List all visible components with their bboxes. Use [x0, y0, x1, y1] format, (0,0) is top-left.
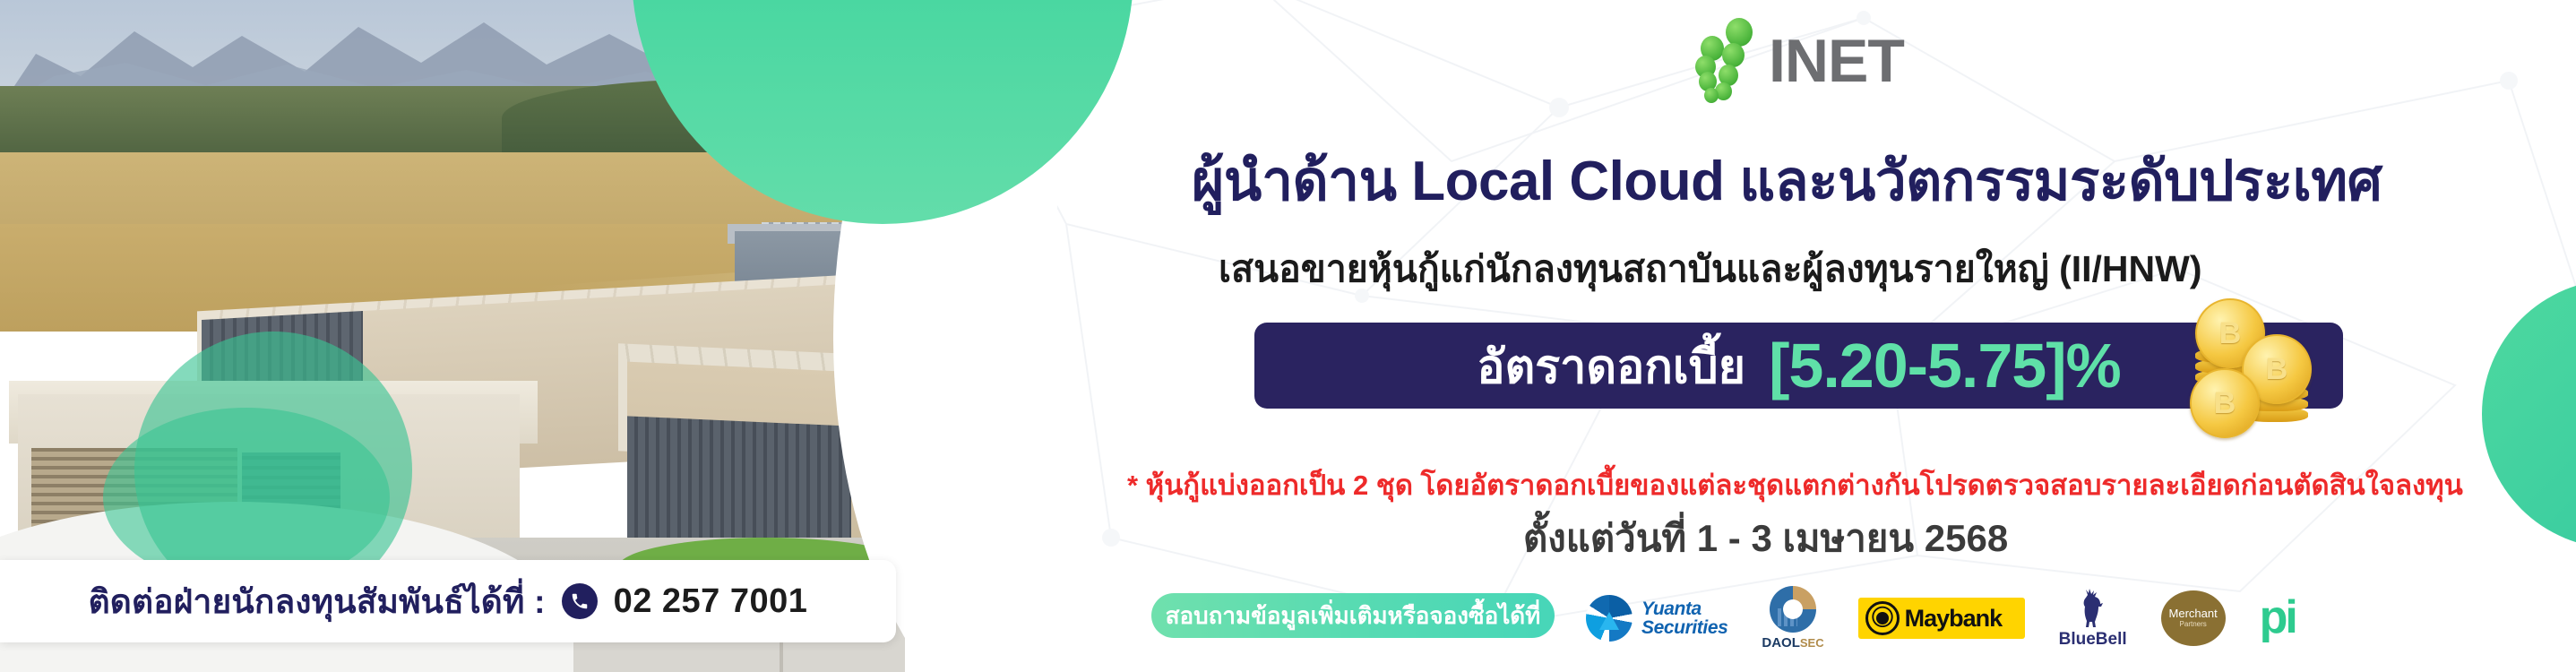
- inet-dots-logo: [1693, 16, 1758, 90]
- maybank-name: Maybank: [1905, 605, 2003, 633]
- phone-icon: [562, 583, 598, 619]
- subscribe-cta-button[interactable]: สอบถามข้อมูลเพิ่มเติมหรือจองซื้อได้ที่: [1151, 593, 1555, 638]
- contact-label: ติดต่อฝ่ายนักลงทุนสัมพันธ์ได้ที่ :: [89, 575, 546, 628]
- partner-logo-pi[interactable]: pi: [2260, 599, 2296, 637]
- pi-wordmark-icon: pi: [2260, 599, 2296, 637]
- interest-rate-box: อัตราดอกเบี้ย [5.20-5.75]%: [1254, 323, 2343, 409]
- yuanta-line2: Securities: [1641, 618, 1727, 637]
- partner-logo-merchant-partners[interactable]: Merchant Partners: [2161, 590, 2226, 646]
- inet-bond-offering-banner: ติดต่อฝ่ายนักลงทุนสัมพันธ์ได้ที่ : 02 25…: [0, 0, 2576, 672]
- bluebell-name: BlueBell: [2059, 630, 2127, 650]
- page-title: ผู้นำด้าน Local Cloud และนวัตกรรมระดับปร…: [1192, 152, 2473, 212]
- investor-relations-contact-card[interactable]: ติดต่อฝ่ายนักลงทุนสัมพันธ์ได้ที่ : 02 25…: [0, 560, 896, 642]
- interest-rate-value: [5.20-5.75]%: [1769, 330, 2121, 401]
- merchant-ellipse-icon: Merchant Partners: [2161, 590, 2226, 646]
- contact-phone-number: 02 257 7001: [614, 582, 808, 621]
- partner-logo-daol[interactable]: DAOLSEC: [1762, 586, 1823, 650]
- yuanta-star-icon: [1586, 595, 1633, 642]
- merchant-line1: Merchant: [2169, 607, 2218, 619]
- partner-logo-maybank[interactable]: Maybank: [1858, 598, 2025, 639]
- partner-logo-yuanta[interactable]: Yuanta Securities: [1586, 595, 1727, 642]
- bluebell-deer-icon: [2075, 588, 2111, 629]
- maybank-tiger-icon: [1865, 601, 1900, 635]
- offering-dateline: ตั้งแต่วันที่ 1 - 3 เมษายน 2568: [1523, 509, 2079, 568]
- offering-note: * หุ้นกู้แบ่งออกเป็น 2 ชุด โดยอัตราดอกเบ…: [1127, 462, 2576, 507]
- daol-circle-icon: [1770, 586, 1816, 633]
- daol-suffix: SEC: [1800, 636, 1824, 650]
- daol-name: DAOL: [1762, 635, 1800, 650]
- interest-rate-label: อัตราดอกเบี้ย: [1477, 329, 1745, 403]
- inet-wordmark: INET: [1769, 33, 1904, 90]
- yuanta-line1: Yuanta: [1641, 599, 1727, 618]
- merchant-line2: Partners: [2180, 619, 2207, 629]
- gold-coins-icon: [2186, 298, 2339, 424]
- page-subtitle: เสนอขายหุ้นกู้แก่นักลงทุนสถาบันและผู้ลงท…: [1219, 240, 2455, 298]
- inet-logo: INET: [1693, 16, 1904, 90]
- partner-logo-bluebell[interactable]: BlueBell: [2059, 588, 2127, 650]
- partner-logos: Yuanta Securities DAOLSEC Maybank: [1586, 578, 2296, 659]
